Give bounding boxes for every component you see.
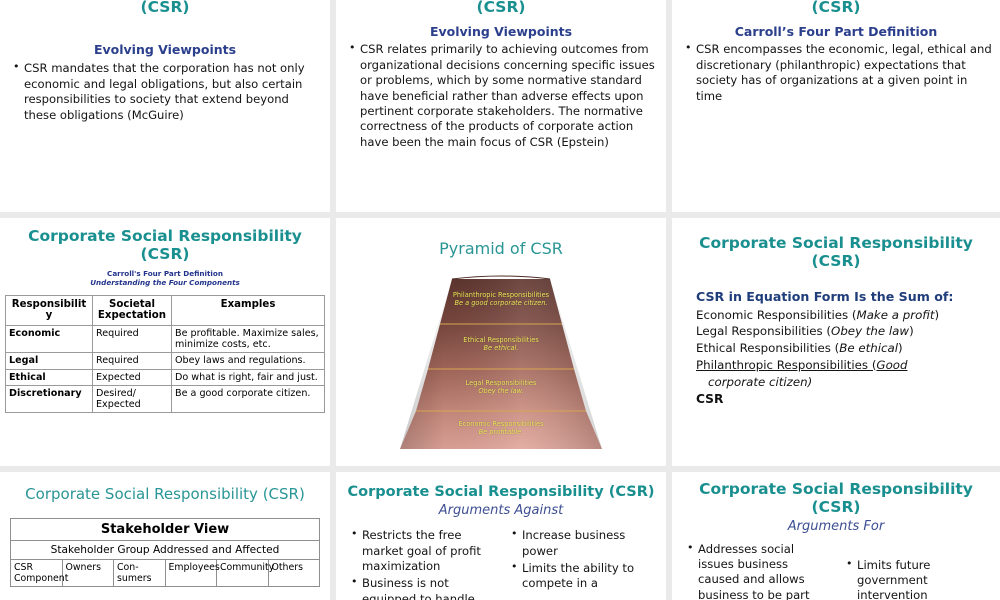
stakeholder-group-line: Stakeholder Group Addressed and Affected [11, 541, 320, 560]
column-header-others: Others [268, 559, 320, 586]
slide-6-title-line2: (CSR) [672, 252, 1000, 270]
slide-2-bullet-list: CSR relates primarily to achieving outco… [336, 42, 666, 150]
table-row: Ethical Expected Do what is right, fair … [6, 369, 325, 385]
cell-examples: Be a good corporate citizen. [172, 385, 325, 412]
table-header-row: CSR Component Owners Con-sumers Employee… [11, 559, 320, 586]
equation-italic: Make a profit [857, 308, 935, 322]
list-item: Restricts the free market goal of profit… [362, 528, 488, 574]
equation-text: Economic Responsibilities ( [696, 308, 857, 322]
slide-thumbnail-3[interactable]: (CSR) Carroll’s Four Part Definition CSR… [672, 0, 1000, 212]
column-header-examples: Examples [172, 295, 325, 326]
table-row: Economic Required Be profitable. Maximiz… [6, 326, 325, 353]
equation-line-ethical: Ethical Responsibilities (Be ethical) [694, 340, 990, 357]
list-item: CSR encompasses the economic, legal, eth… [696, 42, 992, 104]
equation-italic: Be ethical [839, 341, 898, 355]
slide-1-bullet-list: CSR mandates that the corporation has no… [0, 61, 330, 123]
equation-tail: ) [935, 308, 940, 322]
slide-8-title: Corporate Social Responsibility (CSR) [336, 472, 666, 501]
equation-line-wrap: corporate citizen) [694, 374, 990, 391]
slide-8-left-bullets: Restricts the free market goal of profit… [346, 528, 496, 600]
table-row: Stakeholder View [11, 518, 320, 540]
pyramid-icon [336, 263, 666, 453]
equation-text: Philanthropic Responsibilities ( [696, 358, 876, 372]
column-header-csr-component: CSR Component [11, 559, 63, 586]
slide-thumbnail-6[interactable]: Corporate Social Responsibility (CSR) CS… [672, 218, 1000, 466]
equation-text: Legal Responsibilities ( [696, 324, 831, 338]
table-row: Discretionary Desired/ Expected Be a goo… [6, 385, 325, 412]
column-header-community: Community [217, 559, 269, 586]
slide-2-subtitle: Evolving Viewpoints [336, 22, 666, 39]
list-item: Increase business power [522, 528, 648, 559]
equation-tail: ) [909, 324, 914, 338]
slide-6-heading: CSR in Equation Form Is the Sum of: [694, 289, 990, 307]
slide-thumbnail-9[interactable]: Corporate Social Responsibility (CSR) Ar… [672, 472, 1000, 600]
cell-expectation: Required [93, 353, 172, 369]
slide-2-title: (CSR) [336, 0, 666, 16]
cell-examples: Be profitable. Maximize sales, minimize … [172, 326, 325, 353]
column-header-societal-expectation: Societal Expectation [93, 295, 172, 326]
list-item: Business is not equipped to handle [362, 576, 488, 600]
slide-thumbnail-8[interactable]: Corporate Social Responsibility (CSR) Ar… [336, 472, 666, 600]
slide-1-title: (CSR) [0, 0, 330, 16]
slide-3-bullet-list: CSR encompasses the economic, legal, eth… [672, 42, 1000, 104]
slide-5-title: Pyramid of CSR [336, 218, 666, 259]
list-item: Limits future government intervention [857, 558, 982, 600]
cell-expectation: Expected [93, 369, 172, 385]
slide-4-title-line1: Corporate Social Responsibility [0, 227, 330, 245]
table-row: Stakeholder Group Addressed and Affected [11, 541, 320, 560]
equation-line-economic: Economic Responsibilities (Make a profit… [694, 307, 990, 324]
slide-4-subtitle-1: Carroll's Four Part Definition [6, 269, 324, 278]
slide-6-title-line1: Corporate Social Responsibility [672, 234, 1000, 252]
stakeholder-table-title: Stakeholder View [11, 518, 320, 540]
slide-9-right-bullets: Limits future government intervention Ad… [841, 558, 990, 600]
column-header-employees: Employees [165, 559, 217, 586]
cell-expectation: Required [93, 326, 172, 353]
slide-thumbnail-4[interactable]: Corporate Social Responsibility (CSR) Ca… [0, 218, 330, 466]
slide-3-subtitle: Carroll’s Four Part Definition [672, 22, 1000, 39]
slide-7-title: Corporate Social Responsibility (CSR) [0, 472, 330, 504]
equation-line-legal: Legal Responsibilities (Obey the law) [694, 323, 990, 340]
table-row: Legal Required Obey laws and regulations… [6, 353, 325, 369]
column-header-responsibility: Responsibility [6, 295, 93, 326]
cell-responsibility: Ethical [6, 369, 93, 385]
column-header-owners: Owners [62, 559, 114, 586]
slide-8-right-bullets: Increase business power Limits the abili… [506, 528, 656, 592]
slide-thumbnail-7[interactable]: Corporate Social Responsibility (CSR) St… [0, 472, 330, 600]
equation-total: CSR [694, 390, 990, 406]
four-components-table: Responsibility Societal Expectation Exam… [5, 295, 325, 413]
cell-responsibility: Discretionary [6, 385, 93, 412]
equation-line-philanthropic: Philanthropic Responsibilities (Good [694, 357, 990, 374]
cell-responsibility: Economic [6, 326, 93, 353]
cell-responsibility: Legal [6, 353, 93, 369]
equation-italic: Good [876, 358, 907, 372]
table-header-row: Responsibility Societal Expectation Exam… [6, 295, 325, 326]
slide-1-subtitle: Evolving Viewpoints [0, 40, 330, 57]
cell-examples: Obey laws and regulations. [172, 353, 325, 369]
stakeholder-view-table: Stakeholder View Stakeholder Group Addre… [10, 518, 320, 587]
equation-tail: ) [898, 341, 903, 355]
slide-9-subtitle: Arguments For [672, 517, 1000, 534]
slide-9-title-line2: (CSR) [672, 498, 1000, 516]
list-item: CSR relates primarily to achieving outco… [360, 42, 658, 150]
slide-3-title: (CSR) [672, 0, 1000, 16]
slide-grid: (CSR) Evolving Viewpoints CSR mandates t… [0, 0, 1000, 600]
list-item: Addresses social issues business caused … [698, 542, 823, 600]
list-item: CSR mandates that the corporation has no… [24, 61, 322, 123]
equation-italic: Obey the law [831, 324, 909, 338]
cell-expectation: Desired/ Expected [93, 385, 172, 412]
pyramid-of-csr-diagram: Philanthropic Responsibilities Be a good… [336, 263, 666, 453]
slide-thumbnail-5[interactable]: Pyramid of CSR [336, 218, 666, 466]
slide-9-left-bullets: Addresses social issues business caused … [682, 542, 831, 600]
slide-4-title-line2: (CSR) [0, 245, 330, 263]
list-item: Limits the ability to compete in a [522, 561, 648, 592]
equation-wrap-text: corporate citizen) [708, 375, 812, 389]
slide-thumbnail-1[interactable]: (CSR) Evolving Viewpoints CSR mandates t… [0, 0, 330, 212]
slide-8-subtitle: Arguments Against [336, 501, 666, 518]
slide-thumbnail-2[interactable]: (CSR) Evolving Viewpoints CSR relates pr… [336, 0, 666, 212]
column-header-consumers: Con-sumers [114, 559, 166, 586]
slide-4-subtitle-2: Understanding the Four Components [6, 278, 324, 287]
equation-text: Ethical Responsibilities ( [696, 341, 839, 355]
slide-9-title-line1: Corporate Social Responsibility [672, 480, 1000, 498]
cell-examples: Do what is right, fair and just. [172, 369, 325, 385]
